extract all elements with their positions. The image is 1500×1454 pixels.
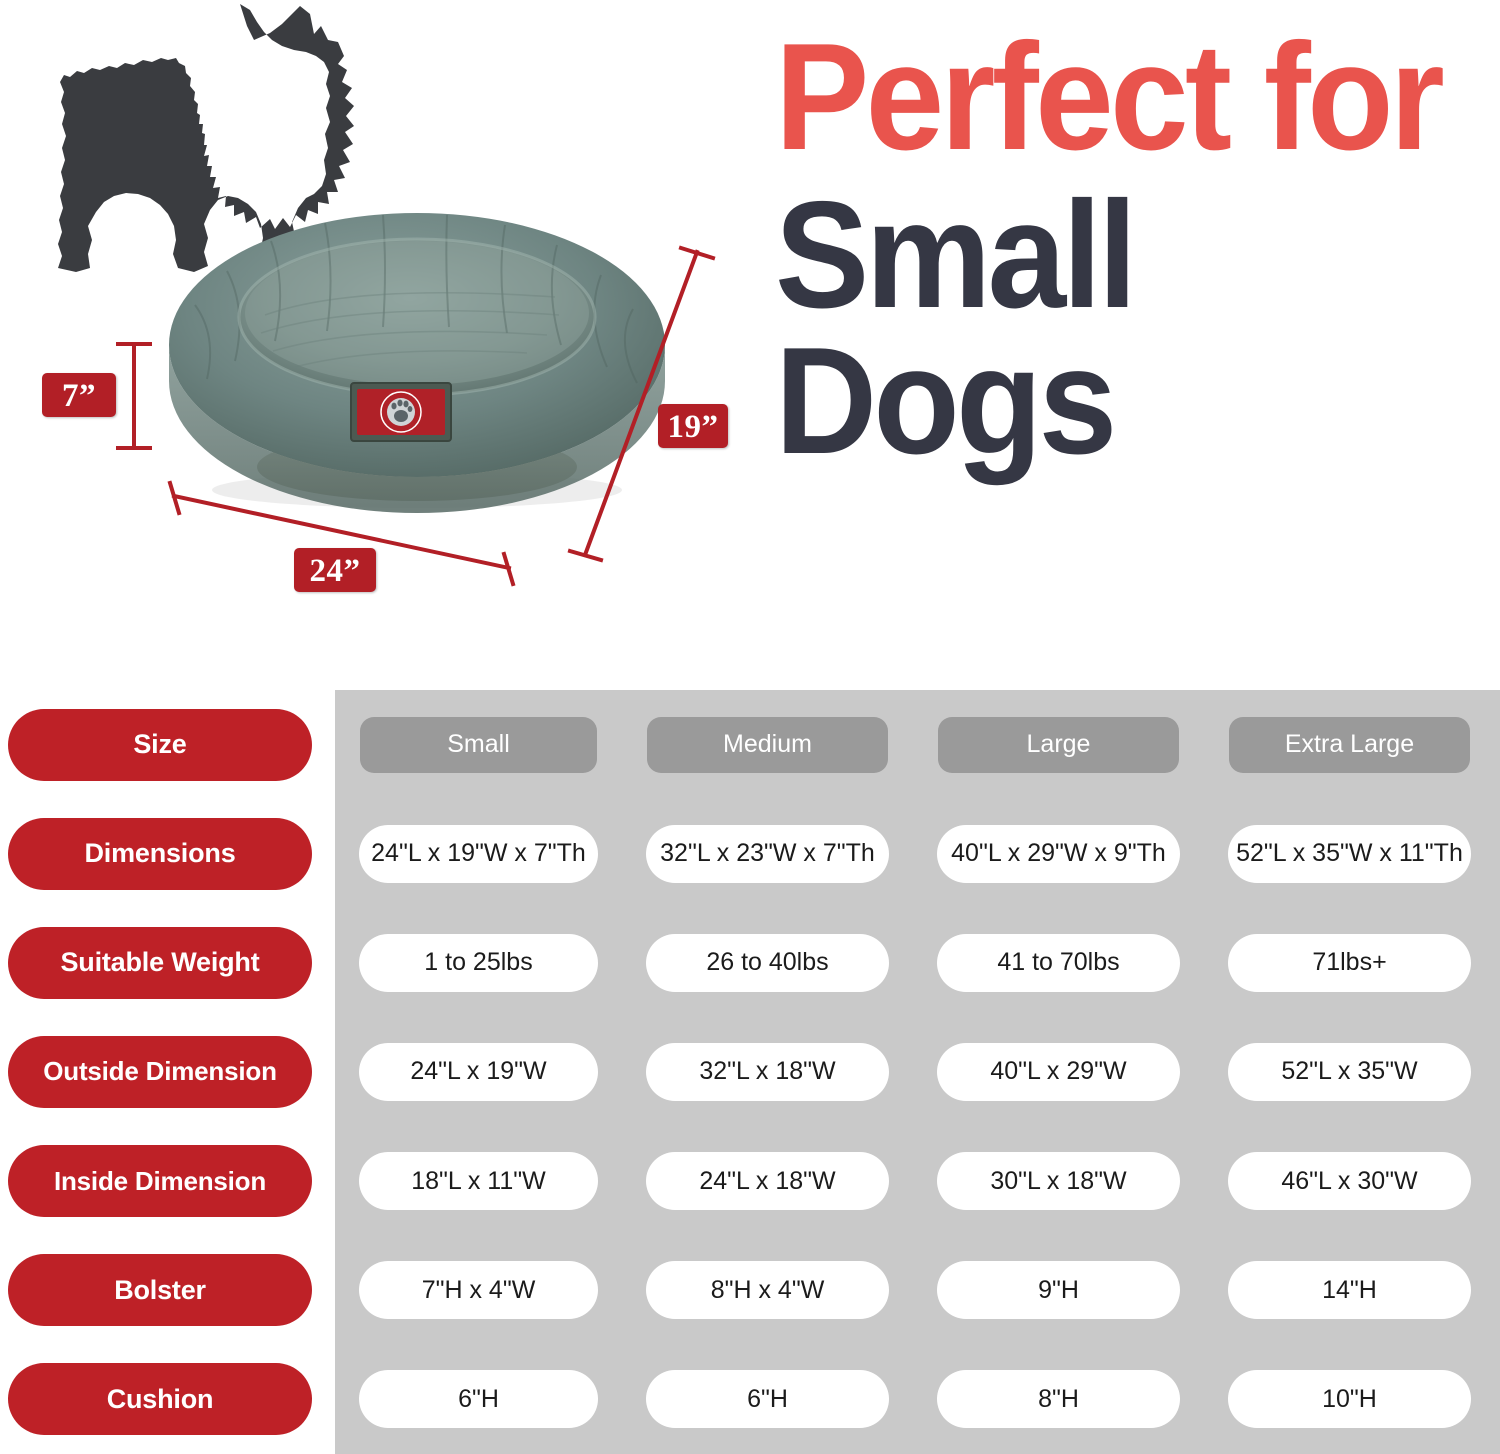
table-cell: 24"L x 18"W xyxy=(646,1152,889,1210)
table-cell: 8"H x 4"W xyxy=(646,1261,889,1319)
measurement-label-height: 7” xyxy=(42,373,116,417)
headline-block: Perfect for Small Dogs xyxy=(775,28,1495,471)
gutter xyxy=(320,1071,335,1072)
table-cell: 14"H xyxy=(1228,1261,1471,1319)
column-header-large: Large xyxy=(938,717,1179,773)
table-cell: 32"L x 18"W xyxy=(646,1043,889,1101)
row-label-bolster: Bolster xyxy=(8,1254,312,1326)
column-header-small: Small xyxy=(360,717,597,773)
row-label-size: Size xyxy=(8,709,312,781)
table-cell: 52"L x 35"W x 11"Th xyxy=(1228,825,1471,883)
table-cell: 10"H xyxy=(1228,1370,1471,1428)
spec-table-section: Size Small Medium Large Extra Large Dime… xyxy=(0,690,1500,1454)
table-cell: 32"L x 23"W x 7"Th xyxy=(646,825,889,883)
table-cell: 52"L x 35"W xyxy=(1228,1043,1471,1101)
gutter xyxy=(320,744,335,745)
headline-line-1: Perfect for xyxy=(775,28,1445,168)
table-cell: 8"H xyxy=(937,1370,1180,1428)
dimension-leader-lines xyxy=(0,0,780,640)
table-cell: 26 to 40lbs xyxy=(646,934,889,992)
row-label-suitable-weight: Suitable Weight xyxy=(8,927,312,999)
table-cell: 71lbs+ xyxy=(1228,934,1471,992)
hero-section: 7” 19” 24” Perfect for Small Dogs xyxy=(0,0,1500,690)
table-cell: 40"L x 29"W xyxy=(937,1043,1180,1101)
row-label-dimensions: Dimensions xyxy=(8,818,312,890)
gutter xyxy=(320,962,335,963)
table-cell: 6"H xyxy=(359,1370,598,1428)
headline-line-2: Small xyxy=(775,186,1445,326)
row-label-outside-dimension: Outside Dimension xyxy=(8,1036,312,1108)
row-label-cushion: Cushion xyxy=(8,1363,312,1435)
column-header-extra-large: Extra Large xyxy=(1229,717,1470,773)
gutter xyxy=(320,1399,335,1400)
row-label-inside-dimension: Inside Dimension xyxy=(8,1145,312,1217)
measurement-label-width: 19” xyxy=(658,404,728,448)
column-header-medium: Medium xyxy=(647,717,888,773)
measurement-label-length: 24” xyxy=(294,548,376,592)
table-cell: 41 to 70lbs xyxy=(937,934,1180,992)
table-cell: 7"H x 4"W xyxy=(359,1261,598,1319)
table-cell: 6"H xyxy=(646,1370,889,1428)
table-cell: 18"L x 11"W xyxy=(359,1152,598,1210)
headline-line-3: Dogs xyxy=(775,332,1445,472)
gutter xyxy=(320,1181,335,1182)
table-cell: 9"H xyxy=(937,1261,1180,1319)
table-cell: 24"L x 19"W xyxy=(359,1043,598,1101)
gutter xyxy=(320,853,335,854)
spec-table-grid: Size Small Medium Large Extra Large Dime… xyxy=(0,690,1500,1454)
table-cell: 30"L x 18"W xyxy=(937,1152,1180,1210)
gutter xyxy=(320,1290,335,1291)
table-cell: 1 to 25lbs xyxy=(359,934,598,992)
table-cell: 46"L x 30"W xyxy=(1228,1152,1471,1210)
table-cell: 40"L x 29"W x 9"Th xyxy=(937,825,1180,883)
table-cell: 24"L x 19"W x 7"Th xyxy=(359,825,598,883)
